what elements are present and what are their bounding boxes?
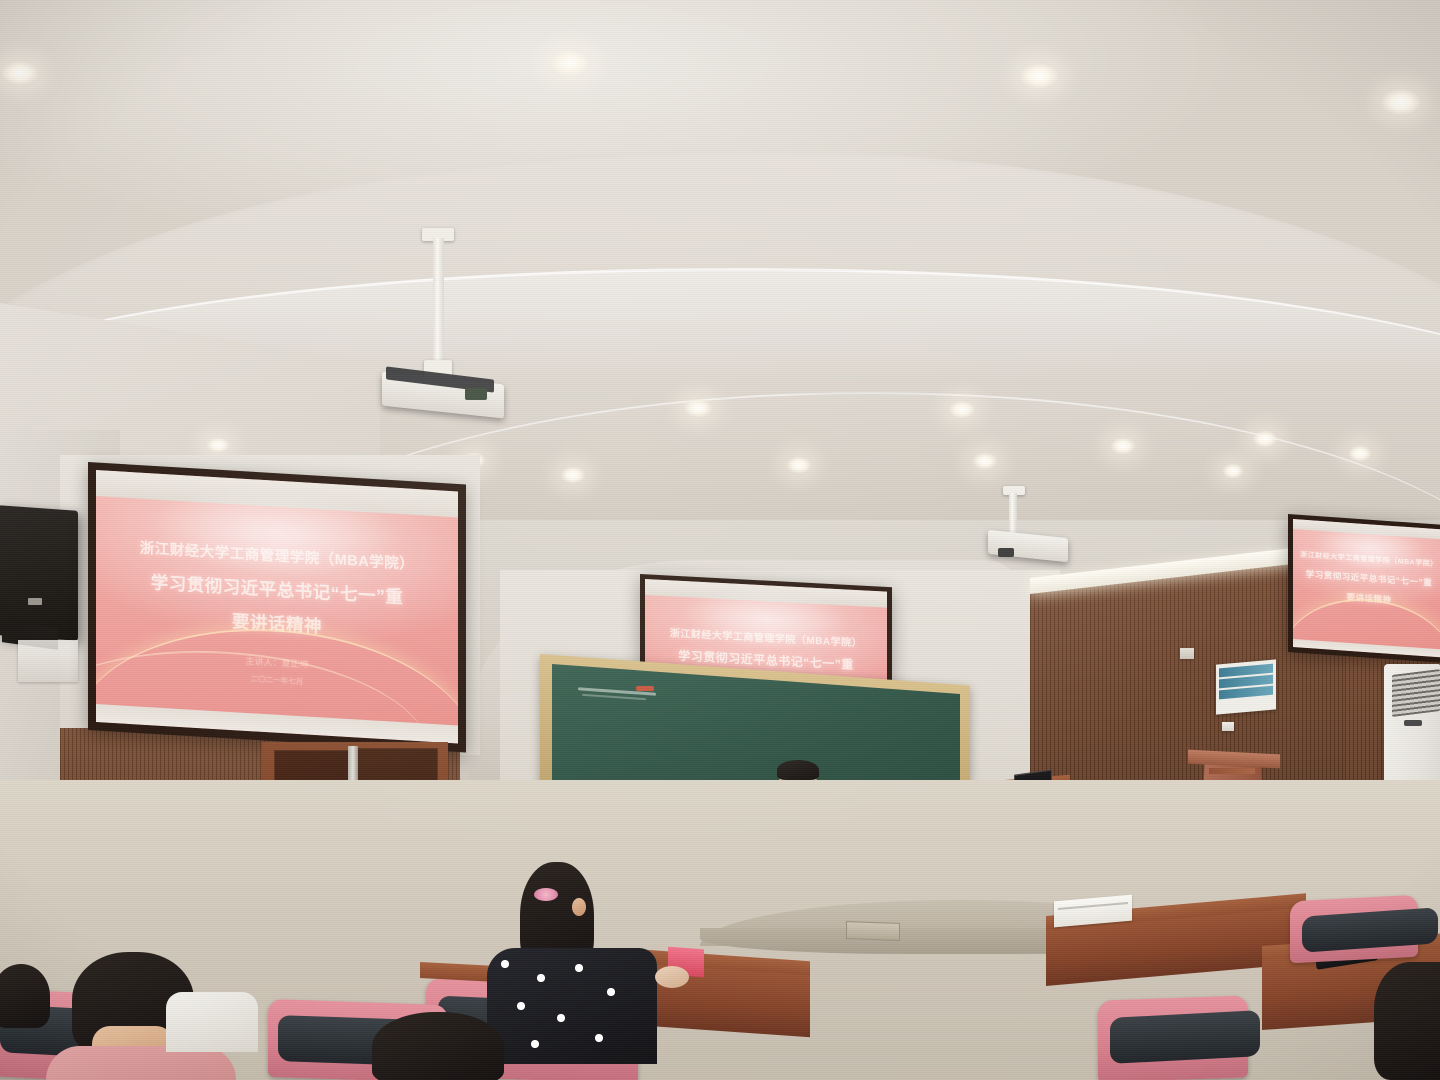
right-screen-slide-line1: 浙江财经大学工商管理学院（MBA学院）: [1293, 549, 1440, 570]
downlight-icon: [1252, 430, 1278, 448]
projector-lens-icon: [465, 388, 487, 400]
downlight-icon: [0, 60, 40, 86]
audience-woman-hair-clip-icon: [534, 888, 558, 901]
audience-student-white-shirt: [166, 992, 258, 1052]
lecture-hall-photo: 浙江财经大学工商管理学院（MBA学院） 学习贯彻习近平总书记“七一”重 要讲话精…: [0, 0, 1440, 1080]
downlight-icon: [972, 452, 998, 470]
audience-woman-hand: [655, 966, 689, 988]
audience-woman-ear: [572, 898, 586, 916]
lectern-nameplate: [1209, 768, 1255, 774]
projector-mount-pole: [433, 238, 444, 372]
air-conditioner-grill-icon: [1392, 669, 1440, 717]
downlight-icon: [786, 456, 812, 474]
downlight-icon: [1348, 445, 1372, 462]
auditorium-seat-cushion[interactable]: [1110, 1010, 1260, 1064]
speaker-hair: [777, 760, 819, 780]
projector-2-lens-icon: [998, 548, 1014, 557]
right-projection-screen: 浙江财经大学工商管理学院（MBA学院） 学习贯彻习近平总书记“七一”重 要讲话精…: [1293, 519, 1440, 658]
downlight-icon: [206, 437, 230, 453]
audience-student-hair-center: [372, 1012, 504, 1080]
downlight-icon: [1018, 62, 1060, 90]
stage-floor-grate-icon: [846, 921, 900, 941]
downlight-icon: [548, 48, 592, 78]
right-screen-slide-line2: 学习贯彻习近平总书记“七一”重: [1293, 567, 1440, 590]
left-projection-screen: 浙江财经大学工商管理学院（MBA学院） 学习贯彻习近平总书记“七一”重 要讲话精…: [96, 470, 458, 744]
wall-switch-plate: [1222, 722, 1234, 731]
audience-student-hair-right: [1374, 962, 1440, 1080]
downlight-icon: [1222, 463, 1244, 479]
wall-box-under-speaker: [18, 640, 78, 682]
loudspeaker-badge-icon: [28, 598, 42, 605]
wall-switch-plate-2: [1180, 648, 1194, 659]
wall-notice-board: [1216, 659, 1276, 714]
blackboard-marker-icon: [636, 686, 654, 691]
downlight-icon: [683, 398, 713, 418]
audience-student-hair-far-left: [0, 964, 50, 1028]
downlight-icon: [1110, 437, 1136, 455]
downlight-icon: [1380, 88, 1422, 116]
notice-text-band: [1219, 686, 1273, 700]
air-conditioner-display-icon: [1404, 720, 1422, 726]
audience-woman-blouse: [487, 948, 657, 1064]
downlight-icon: [560, 466, 586, 484]
downlight-icon: [948, 400, 976, 419]
